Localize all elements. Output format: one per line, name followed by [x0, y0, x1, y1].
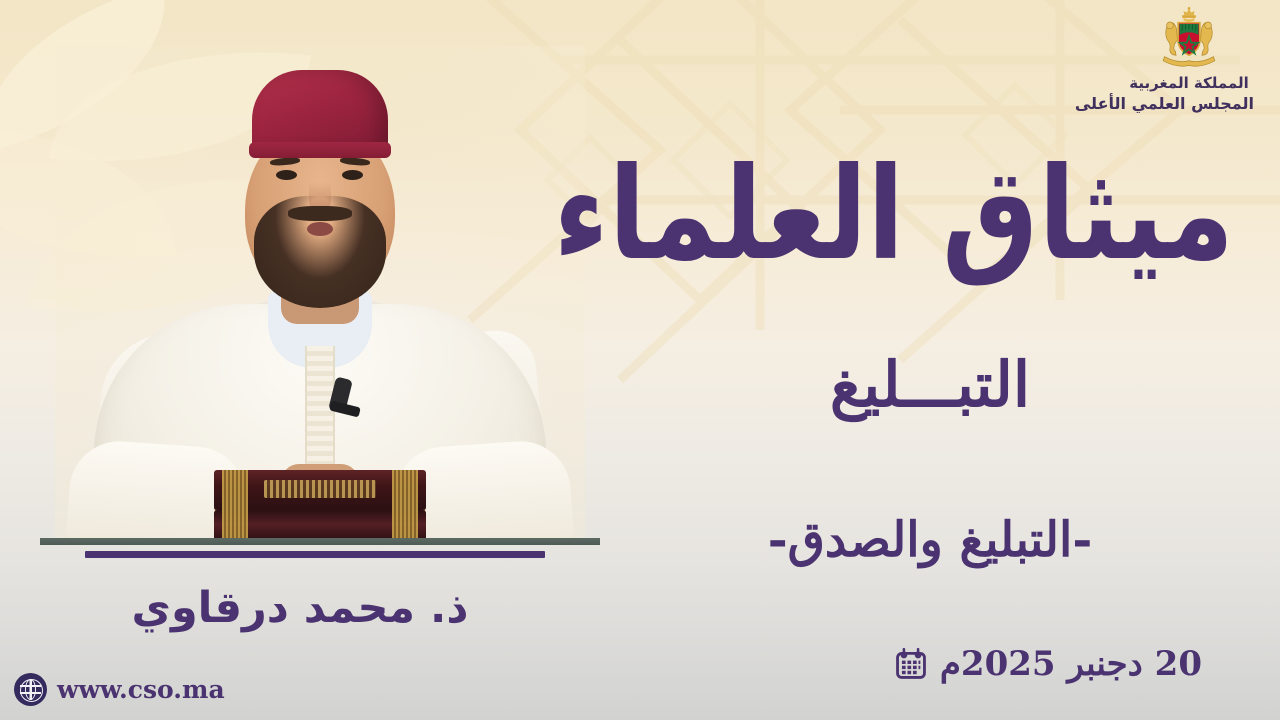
name-divider: [85, 551, 545, 558]
eye-left: [276, 170, 297, 180]
website-credit[interactable]: www.cso.ma: [14, 673, 225, 706]
episode-subtitle: -التبليغ والصدق-: [690, 512, 1170, 568]
speaker-name: ذ. محمد درقاوي: [0, 583, 600, 633]
institution-logo: المملكة المغربية المجلس العلمي الأعلى: [1124, 6, 1254, 114]
eye-right: [342, 170, 363, 180]
broadcast-title-card: ذ. محمد درقاوي www.cso.ma ميثاق العلماء …: [0, 0, 1280, 720]
logo-kingdom-label: المملكة المغربية: [1124, 74, 1254, 93]
speaker-photo: [0, 0, 640, 545]
broadcast-date: 20 دجنبر 2025م: [894, 644, 1202, 684]
mustache: [288, 206, 352, 221]
morocco-coat-of-arms-icon: [1155, 6, 1223, 72]
desk-surface: [40, 538, 600, 545]
logo-council-label: المجلس العلمي الأعلى: [1124, 94, 1254, 114]
episode-title: التبـــليغ: [690, 348, 1170, 421]
tarboosh-band: [249, 142, 391, 158]
calendar-icon: [894, 647, 928, 681]
program-title: ميثاق العلماء: [634, 152, 1234, 279]
date-text: 20 دجنبر 2025م: [940, 644, 1202, 684]
website-url: www.cso.ma: [57, 675, 225, 704]
books-stack: [214, 470, 426, 542]
mouth: [307, 222, 333, 236]
globe-icon: [14, 673, 47, 706]
